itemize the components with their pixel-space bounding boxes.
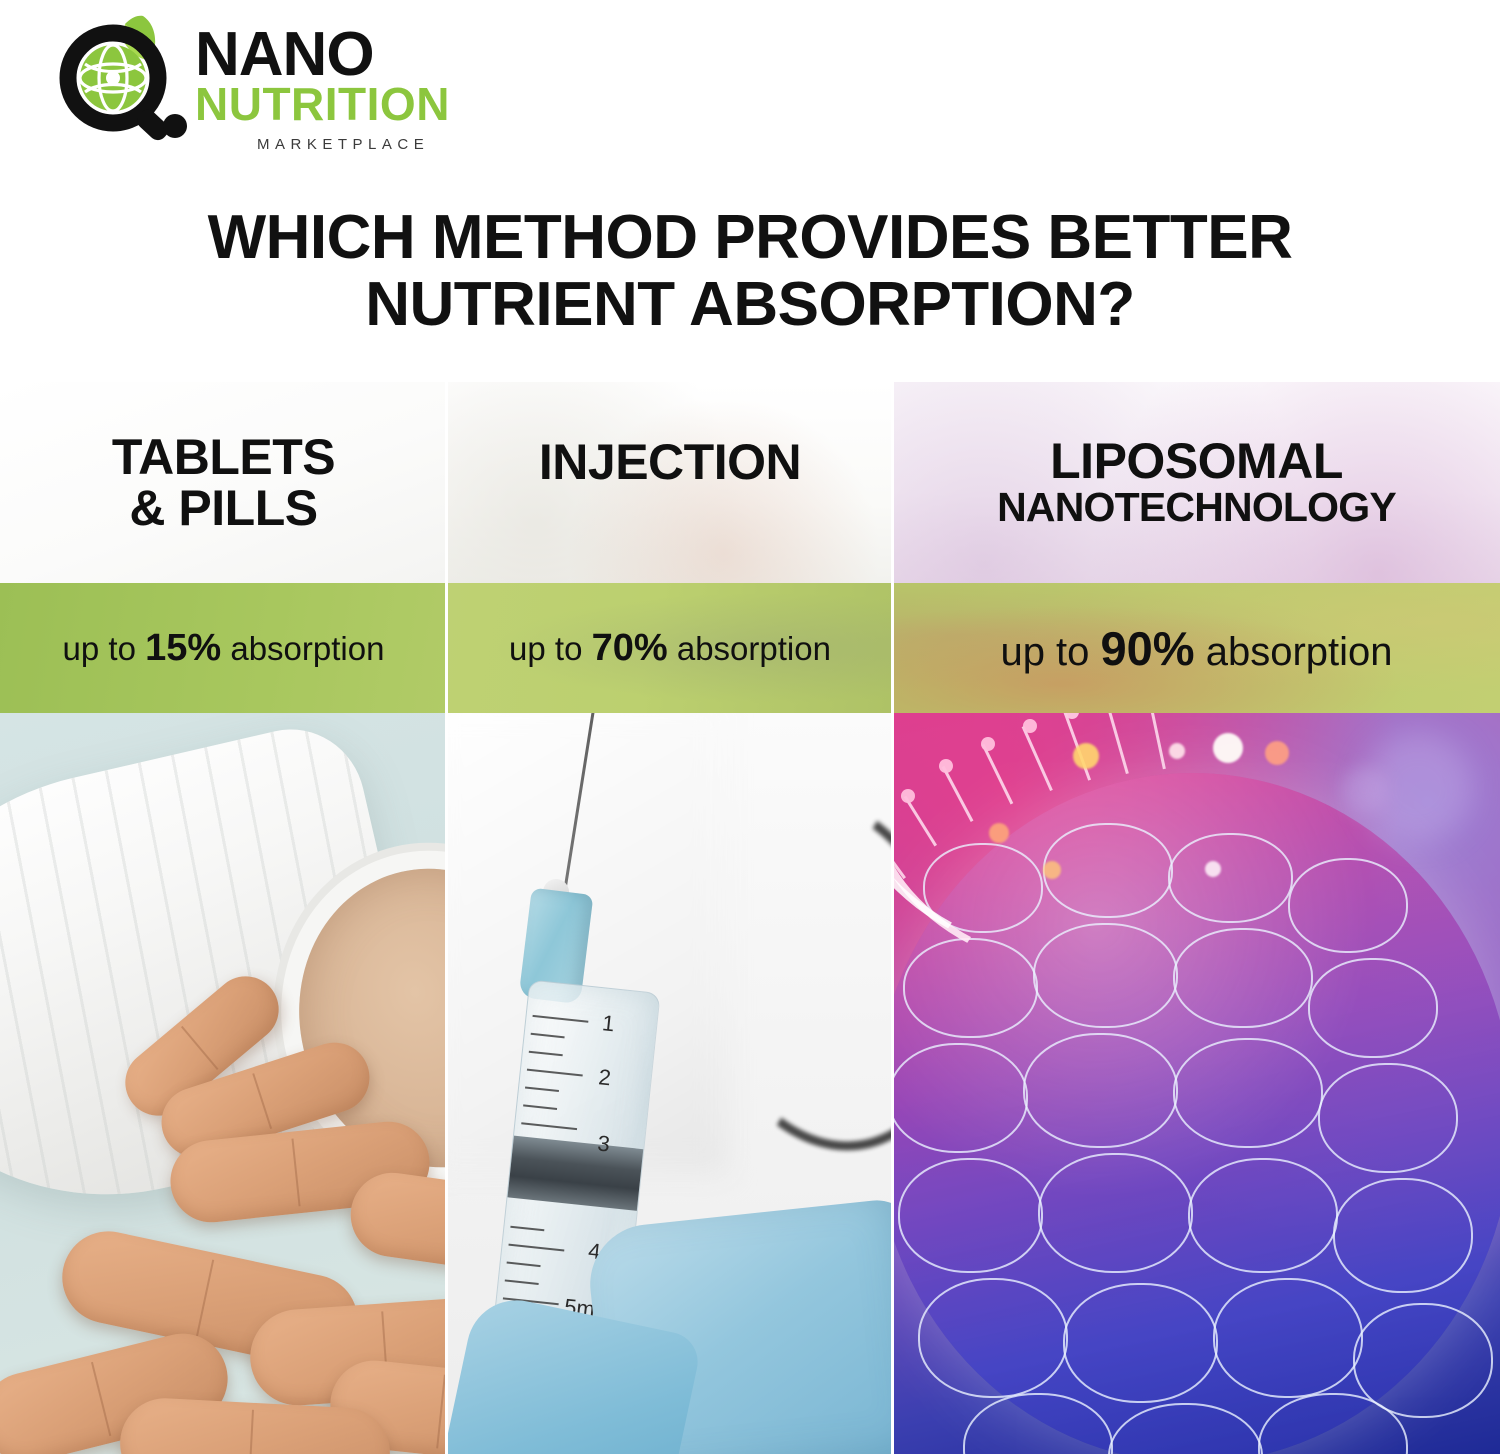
bokeh-particle — [989, 823, 1009, 843]
photo-liposome-nanoparticle — [893, 713, 1500, 1454]
syringe-tick-label: 2 — [597, 1064, 612, 1091]
column-title-line2: & PILLS — [112, 483, 335, 534]
column-title-line1: TABLETS — [112, 432, 335, 483]
absorption-percent: 90% — [1101, 622, 1195, 675]
bokeh-particle — [1363, 733, 1473, 843]
absorption-prefix: up to — [63, 630, 146, 667]
brand-name-secondary: NUTRITION — [195, 81, 450, 127]
bokeh-particle — [1043, 861, 1061, 879]
magnifier-leaf-icon — [55, 14, 195, 144]
bokeh-particle — [1205, 861, 1221, 877]
column-title-line2: NANOTECHNOLOGY — [997, 487, 1396, 529]
absorption-band-tablets: up to 15% absorption — [0, 583, 447, 713]
syringe-tick-label: 1 — [601, 1010, 616, 1037]
photo-syringe: 1 2 3 4 5ml — [447, 713, 893, 1454]
column-title-line1: LIPOSOMAL — [997, 436, 1396, 487]
absorption-percent: 70% — [592, 627, 668, 669]
bokeh-particle — [1073, 743, 1099, 769]
comparison-grid: TABLETS & PILLS up to 15% absorption — [0, 382, 1500, 1454]
absorption-suffix: absorption — [1195, 630, 1393, 674]
absorption-band-liposomal: up to 90% absorption — [893, 583, 1500, 713]
absorption-suffix: absorption — [668, 630, 831, 667]
column-header-tablets: TABLETS & PILLS — [0, 382, 447, 583]
comparison-column-liposomal: LIPOSOMAL NANOTECHNOLOGY up to 90% absor… — [893, 382, 1500, 1454]
page-title: WHICH METHOD PROVIDES BETTER NUTRIENT AB… — [0, 205, 1500, 339]
photo-pill-bottle — [0, 713, 447, 1454]
column-header-injection: INJECTION — [447, 382, 893, 583]
column-divider — [891, 382, 894, 1454]
brand-tagline: MARKETPLACE — [257, 136, 450, 153]
bokeh-particle — [1169, 743, 1185, 759]
column-title-line1: INJECTION — [539, 437, 801, 488]
comparison-column-injection: INJECTION up to 70% absorption — [447, 382, 893, 1454]
absorption-prefix: up to — [509, 630, 592, 667]
absorption-prefix: up to — [1000, 630, 1100, 674]
absorption-suffix: absorption — [221, 630, 384, 667]
brand-logo[interactable]: NANO NUTRITION MARKETPLACE — [55, 8, 475, 168]
column-header-liposomal: LIPOSOMAL NANOTECHNOLOGY — [893, 382, 1500, 583]
brand-name-primary: NANO — [195, 26, 450, 83]
syringe-plunger — [508, 1136, 644, 1211]
absorption-band-injection: up to 70% absorption — [447, 583, 893, 713]
absorption-percent: 15% — [145, 627, 221, 669]
bokeh-particle — [1265, 741, 1289, 765]
column-divider — [445, 382, 448, 1454]
brand-wordmark: NANO NUTRITION MARKETPLACE — [195, 26, 450, 153]
bokeh-particle — [1213, 733, 1243, 763]
comparison-column-tablets: TABLETS & PILLS up to 15% absorption — [0, 382, 447, 1454]
